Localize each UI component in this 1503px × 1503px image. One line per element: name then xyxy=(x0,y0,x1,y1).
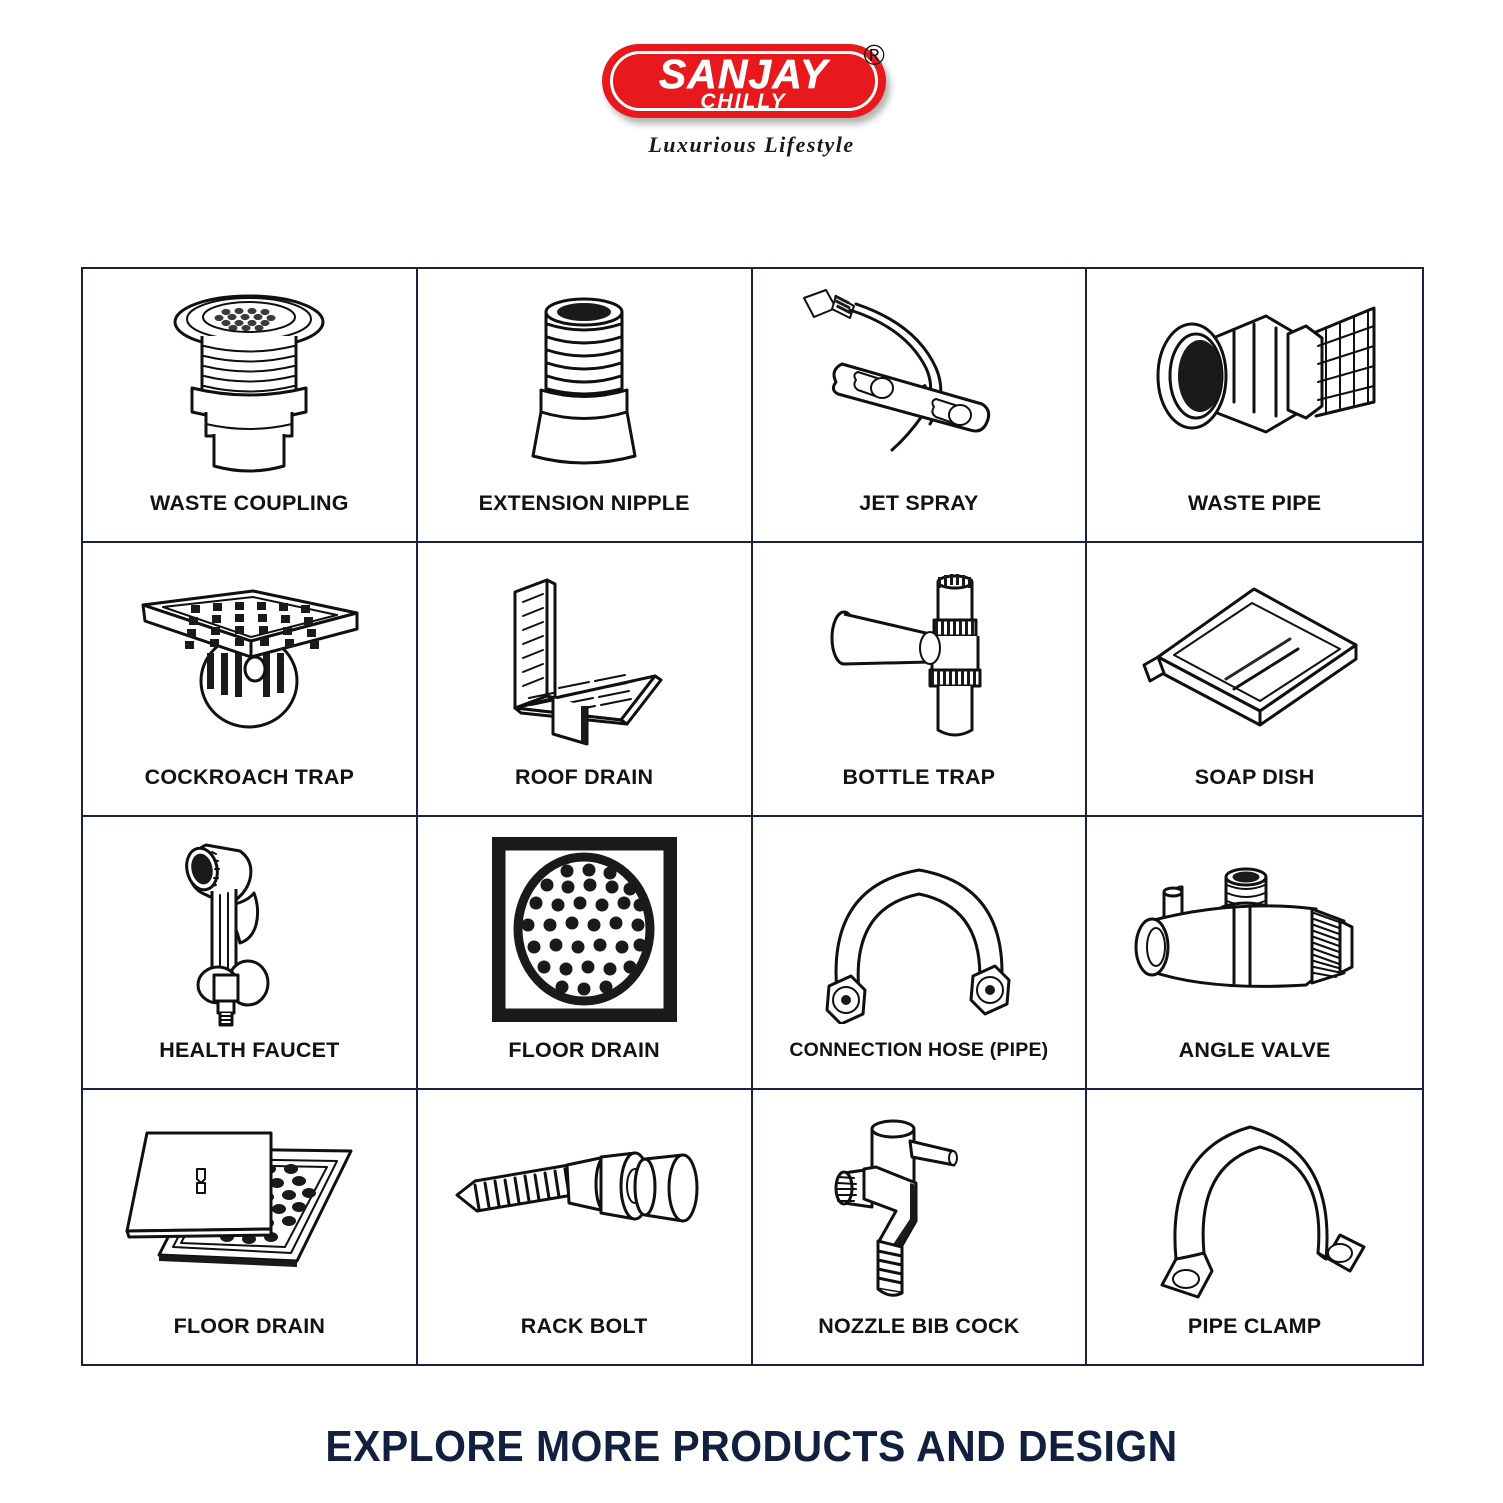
product-label: EXTENSION NIPPLE xyxy=(418,491,751,541)
pipe-clamp-icon xyxy=(1087,1090,1422,1314)
logo-sub-text: CHILLY xyxy=(602,91,886,112)
product-label: SOAP DISH xyxy=(1087,765,1422,815)
product-cell-jet-spray[interactable]: JET SPRAY xyxy=(753,269,1088,543)
product-cell-cockroach-trap[interactable]: COCKROACH TRAP xyxy=(83,543,418,817)
registered-trademark-icon: ® xyxy=(864,42,885,71)
product-label: WASTE COUPLING xyxy=(83,491,416,541)
nozzle-bib-cock-icon xyxy=(753,1090,1086,1314)
product-label: HEALTH FAUCET xyxy=(83,1038,416,1088)
product-cell-health-faucet[interactable]: HEALTH FAUCET xyxy=(83,817,418,1091)
floor-drain-round-icon xyxy=(418,817,751,1039)
product-cell-waste-coupling[interactable]: WASTE COUPLING xyxy=(83,269,418,543)
product-label: NOZZLE BIB COCK xyxy=(753,1314,1086,1364)
product-label: FLOOR DRAIN xyxy=(418,1038,751,1088)
product-cell-roof-drain[interactable]: ROOF DRAIN xyxy=(418,543,753,817)
product-cell-waste-pipe[interactable]: WASTE PIPE xyxy=(1087,269,1422,543)
waste-coupling-icon xyxy=(83,269,416,491)
logo-brand-text: SANJAY xyxy=(602,54,886,94)
product-label: WASTE PIPE xyxy=(1087,491,1422,541)
product-label: ANGLE VALVE xyxy=(1087,1038,1422,1088)
product-cell-floor-drain-round[interactable]: FLOOR DRAIN xyxy=(418,817,753,1091)
soap-dish-icon xyxy=(1087,543,1422,765)
floor-drain-square-icon xyxy=(83,1090,416,1314)
product-cell-floor-drain-square[interactable]: FLOOR DRAIN xyxy=(83,1090,418,1364)
logo-tagline: Luxurious Lifestyle xyxy=(648,132,854,158)
product-label: ROOF DRAIN xyxy=(418,765,751,815)
product-label: RACK BOLT xyxy=(418,1314,751,1364)
health-faucet-icon xyxy=(83,817,416,1039)
product-label: COCKROACH TRAP xyxy=(83,765,416,815)
product-cell-soap-dish[interactable]: SOAP DISH xyxy=(1087,543,1422,817)
product-grid: WASTE COUPLING EXTENSION NIPPLE xyxy=(81,267,1424,1366)
product-label: PIPE CLAMP xyxy=(1087,1314,1422,1364)
product-cell-pipe-clamp[interactable]: PIPE CLAMP xyxy=(1087,1090,1422,1364)
product-label: FLOOR DRAIN xyxy=(83,1314,416,1364)
product-cell-angle-valve[interactable]: ANGLE VALVE xyxy=(1087,817,1422,1091)
product-cell-extension-nipple[interactable]: EXTENSION NIPPLE xyxy=(418,269,753,543)
bottle-trap-icon xyxy=(753,543,1086,765)
product-label: CONNECTION HOSE (PIPE) xyxy=(753,1038,1086,1088)
product-cell-rack-bolt[interactable]: RACK BOLT xyxy=(418,1090,753,1364)
angle-valve-icon xyxy=(1087,817,1422,1039)
product-cell-connection-hose[interactable]: CONNECTION HOSE (PIPE) xyxy=(753,817,1088,1091)
brand-logo: SANJAY CHILLY ® Luxurious Lifestyle xyxy=(0,44,1503,174)
roof-drain-icon xyxy=(418,543,751,765)
extension-nipple-icon xyxy=(418,269,751,491)
product-cell-bottle-trap[interactable]: BOTTLE TRAP xyxy=(753,543,1088,817)
waste-pipe-icon xyxy=(1087,269,1422,491)
product-label: BOTTLE TRAP xyxy=(753,765,1086,815)
logo-badge: SANJAY CHILLY ® xyxy=(602,44,902,126)
product-cell-nozzle-bib-cock[interactable]: NOZZLE BIB COCK xyxy=(753,1090,1088,1364)
product-label: JET SPRAY xyxy=(753,491,1086,541)
footer-headline: EXPLORE MORE PRODUCTS AND DESIGN xyxy=(53,1422,1451,1472)
rack-bolt-icon xyxy=(418,1090,751,1314)
connection-hose-icon xyxy=(753,817,1086,1039)
jet-spray-icon xyxy=(753,269,1086,491)
cockroach-trap-icon xyxy=(83,543,416,765)
